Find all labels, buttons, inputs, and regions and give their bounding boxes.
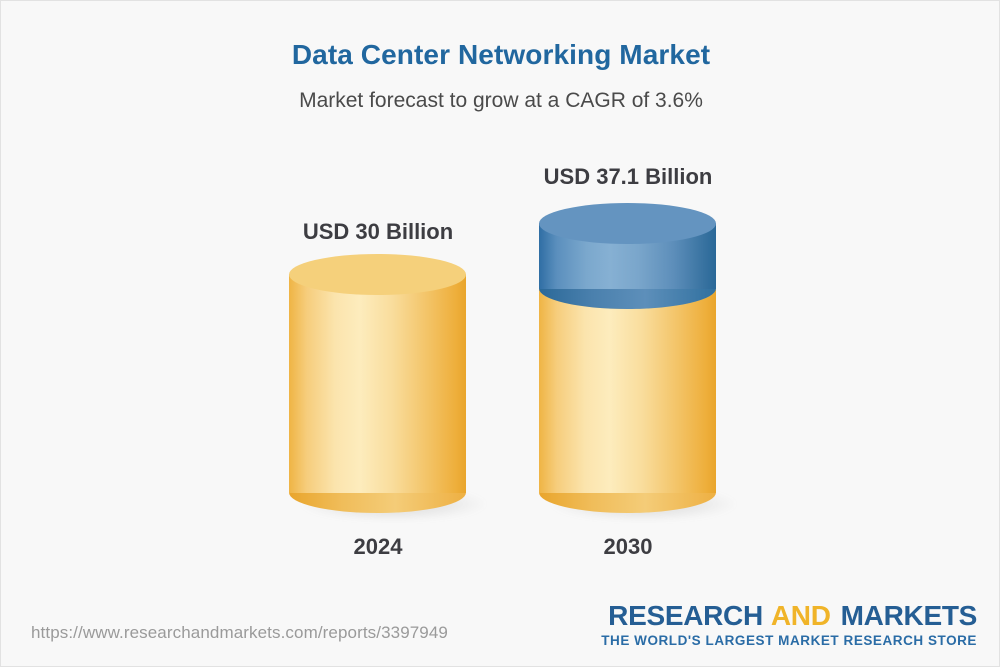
chart-page: Data Center Networking Market Market for… xyxy=(0,0,1000,667)
segment-body-base-2030 xyxy=(539,288,716,493)
category-label-2030: 2030 xyxy=(468,534,788,560)
segment-base-2024 xyxy=(289,254,466,513)
segment-growth-2030 xyxy=(539,203,716,309)
report-url[interactable]: https://www.researchandmarkets.com/repor… xyxy=(31,623,448,643)
segment-top-ellipse-growth-2030 xyxy=(539,203,716,244)
logo-tagline: THE WORLD'S LARGEST MARKET RESEARCH STOR… xyxy=(601,633,977,648)
plot-area: USD 30 Billion 2024 USD 37.1 Billion xyxy=(1,1,1000,601)
segment-body-2024 xyxy=(289,274,466,493)
value-label-2024: USD 30 Billion xyxy=(218,219,538,245)
segment-top-ellipse-2024 xyxy=(289,254,466,295)
logo-part-and: AND xyxy=(771,600,831,631)
logo-wordmark: RESEARCHANDMARKETS xyxy=(601,601,977,630)
value-label-2030: USD 37.1 Billion xyxy=(468,164,788,190)
brand-logo: RESEARCHANDMARKETS THE WORLD'S LARGEST M… xyxy=(601,601,977,648)
logo-part-research: RESEARCH xyxy=(608,600,763,631)
logo-part-markets: MARKETS xyxy=(841,600,977,631)
